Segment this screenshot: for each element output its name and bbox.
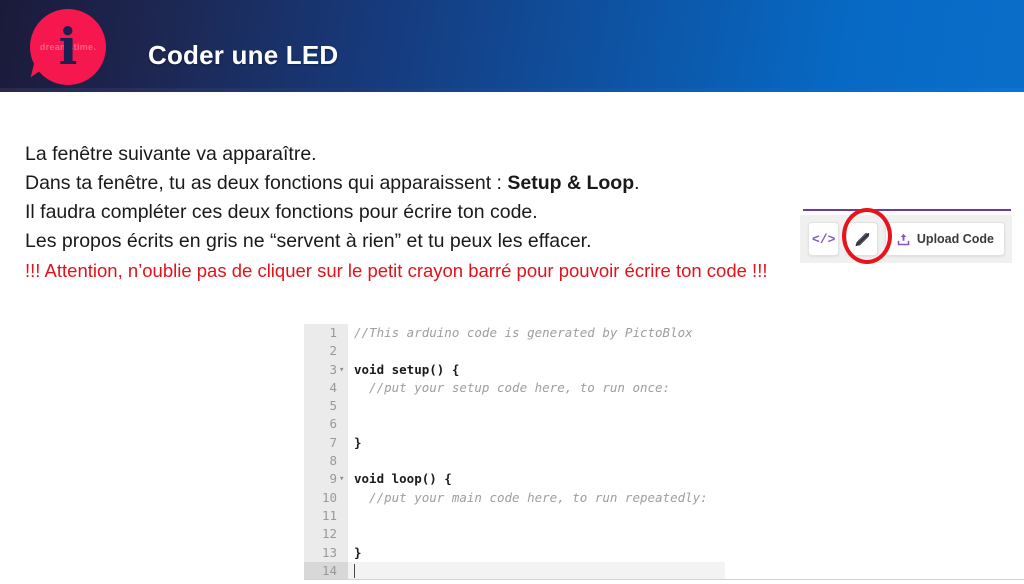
code-line-text: //put your setup code here, to run once: — [354, 379, 670, 397]
toolbar-bar: </> Upload Code — [800, 215, 1012, 263]
line-number: 12 — [304, 525, 337, 543]
code-line-text: void setup() { — [354, 361, 459, 379]
instruction-line-2: Dans ta fenêtre, tu as deux fonctions qu… — [25, 169, 985, 198]
active-line-highlight — [348, 562, 725, 580]
code-line[interactable]: 6 — [304, 415, 1024, 433]
editor-toolbar: </> Upload Code — [800, 209, 1012, 265]
code-line[interactable]: 3▾void setup() { — [304, 361, 1024, 379]
code-line[interactable]: 13} — [304, 544, 1024, 562]
code-line-text: } — [354, 434, 362, 452]
instruction-line-2-bold: Setup & Loop — [507, 172, 634, 194]
code-line-text: void loop() { — [354, 470, 452, 488]
code-keyword: } — [354, 545, 362, 560]
instruction-line-1: La fenêtre suivante va apparaître. — [25, 140, 985, 169]
code-line[interactable]: 8 — [304, 452, 1024, 470]
page-title: Coder une LED — [148, 40, 338, 71]
line-number: 6 — [304, 415, 337, 433]
code-comment: //put your main code here, to run repeat… — [354, 490, 708, 505]
code-line[interactable]: 7} — [304, 434, 1024, 452]
upload-code-button[interactable]: Upload Code — [885, 222, 1005, 256]
line-number: 13 — [304, 544, 337, 562]
code-view-button[interactable]: </> — [808, 222, 839, 256]
code-line[interactable]: 4 //put your setup code here, to run onc… — [304, 379, 1024, 397]
instruction-line-2-prefix: Dans ta fenêtre, tu as deux fonctions qu… — [25, 172, 507, 194]
line-number: 5 — [304, 397, 337, 415]
line-number: 8 — [304, 452, 337, 470]
line-number: 11 — [304, 507, 337, 525]
code-line[interactable]: 10 //put your main code here, to run rep… — [304, 489, 1024, 507]
line-number: 3 — [304, 361, 337, 379]
code-line-text: //put your main code here, to run repeat… — [354, 489, 708, 507]
code-line-text: //This arduino code is generated by Pict… — [354, 324, 693, 342]
line-number: 9 — [304, 470, 337, 488]
code-editor[interactable]: 1//This arduino code is generated by Pic… — [304, 324, 1024, 582]
code-keyword: void setup() { — [354, 362, 459, 377]
header-bottom-edge — [0, 88, 1024, 92]
code-comment: //This arduino code is generated by Pict… — [354, 325, 693, 340]
upload-icon — [896, 232, 911, 247]
code-line[interactable]: 5 — [304, 397, 1024, 415]
edit-toggle-button[interactable] — [846, 222, 877, 256]
code-line[interactable]: 1//This arduino code is generated by Pic… — [304, 324, 1024, 342]
code-fold-arrow-icon[interactable]: ▾ — [339, 470, 347, 488]
info-speech-bubble-icon: dreamstime. i — [22, 6, 116, 92]
text-caret — [354, 564, 355, 578]
code-keyword: } — [354, 435, 362, 450]
code-line[interactable]: 12 — [304, 525, 1024, 543]
code-line-text: } — [354, 544, 362, 562]
line-number: 7 — [304, 434, 337, 452]
line-number: 4 — [304, 379, 337, 397]
upload-code-label: Upload Code — [917, 232, 994, 246]
line-number: 1 — [304, 324, 337, 342]
header-banner: dreamstime. i Coder une LED — [0, 0, 1024, 92]
pencil-slash-icon — [853, 230, 872, 249]
code-lines-container[interactable]: 1//This arduino code is generated by Pic… — [304, 324, 1024, 580]
line-number: 10 — [304, 489, 337, 507]
instruction-line-2-suffix: . — [634, 172, 639, 194]
code-comment: //put your setup code here, to run once: — [354, 380, 670, 395]
toolbar-divider — [803, 209, 1011, 211]
code-brackets-icon: </> — [812, 232, 835, 247]
code-line[interactable]: 2 — [304, 342, 1024, 360]
code-line[interactable]: 14 — [304, 562, 1024, 580]
code-line[interactable]: 9▾void loop() { — [304, 470, 1024, 488]
code-keyword: void loop() { — [354, 471, 452, 486]
editor-bottom-divider — [304, 579, 1024, 580]
line-number: 2 — [304, 342, 337, 360]
line-number: 14 — [304, 562, 337, 580]
code-line[interactable]: 11 — [304, 507, 1024, 525]
info-letter: i — [30, 9, 106, 85]
code-fold-arrow-icon[interactable]: ▾ — [339, 361, 347, 379]
